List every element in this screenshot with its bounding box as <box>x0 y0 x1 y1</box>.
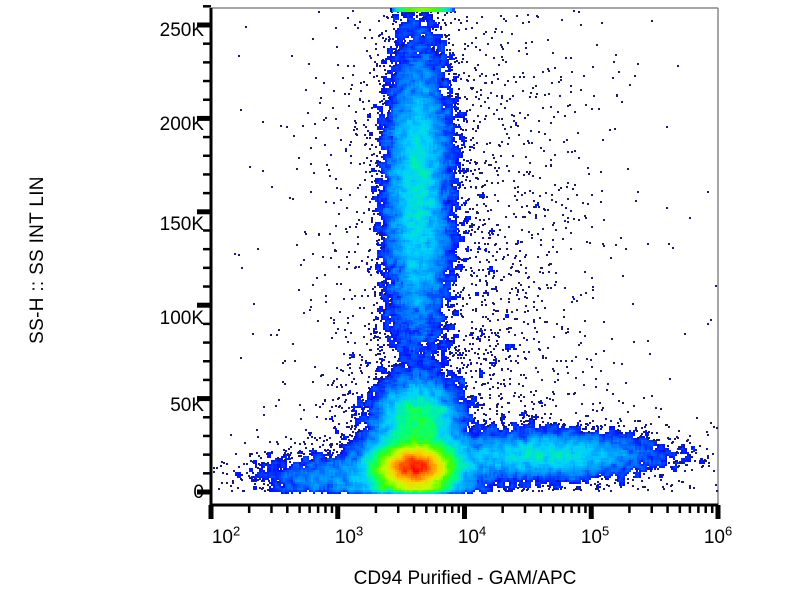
flow-cytometry-plot: SS-H :: SS INT LIN CD94 Purified - GAM/A… <box>0 0 800 600</box>
plot-canvas <box>0 0 800 600</box>
saturation-line <box>390 8 455 12</box>
data-points-layer <box>213 8 718 494</box>
